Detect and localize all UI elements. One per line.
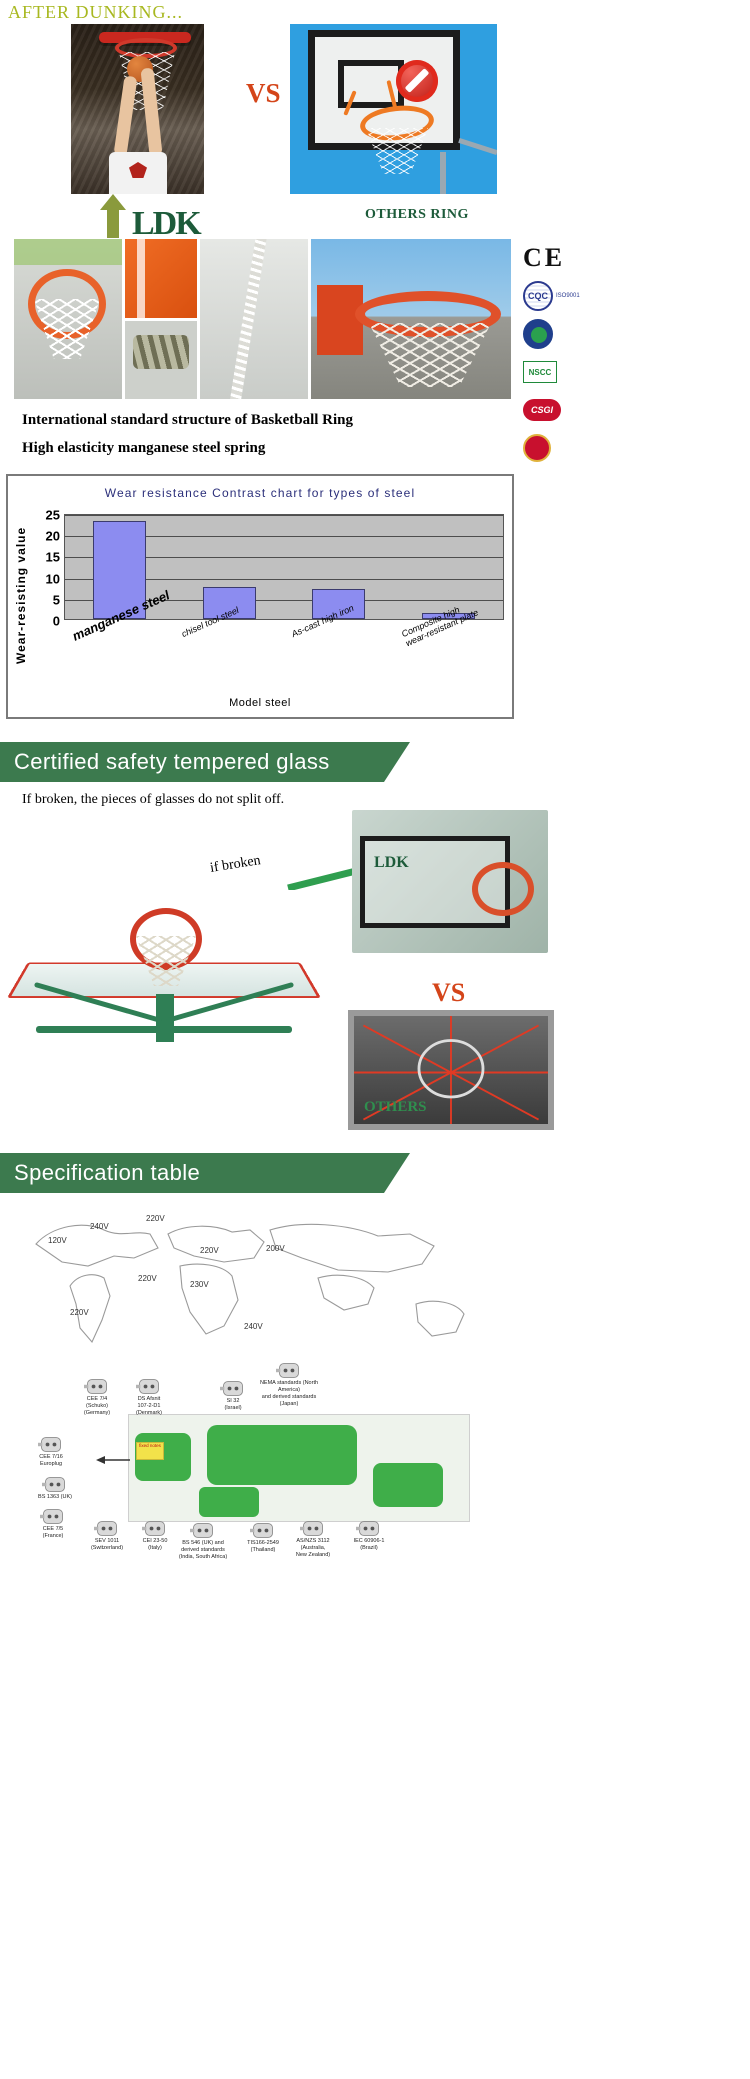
voltage-label: 220V — [70, 1308, 89, 1317]
iso9001-label: ISO9001 — [556, 293, 580, 299]
brand-logo-on-board: LDK — [374, 854, 409, 872]
upward-arrow-icon — [100, 194, 126, 238]
bs-1363-uk-label: BS 1363 (UK) — [20, 1494, 90, 1501]
cqc-icon: CQC — [523, 281, 553, 311]
ce-icon: CE — [523, 243, 565, 273]
broken-glass-detail-photo: LDK — [352, 810, 548, 953]
manganese-spring — [133, 335, 189, 369]
cee-7-4-schuko-icon — [84, 1376, 110, 1397]
support-base — [36, 1026, 292, 1033]
wear-resistance-chart: Wear resistance Contrast chart for types… — [6, 474, 514, 719]
ds-afsnit-107-2-d1-label: DS Afsnit107-2-D1(Denmark) — [114, 1396, 184, 1417]
others-watermark: OTHERS — [364, 1099, 427, 1116]
chart-y-tick: 20 — [46, 529, 60, 544]
banner-tempered-glass: Certified safety tempered glass — [0, 742, 410, 782]
glass-backboard-assembly — [18, 890, 310, 1045]
voltage-label: 240V — [244, 1322, 263, 1331]
glass-subtitle: If broken, the pieces of glasses do not … — [22, 792, 284, 808]
cert-red-seal — [523, 429, 747, 467]
player-jersey — [109, 152, 167, 194]
chart-bar-group — [175, 515, 285, 619]
as-nzs-3112-icon — [300, 1518, 326, 1539]
nema-standards-icon — [276, 1360, 302, 1381]
deformed-net — [366, 128, 428, 174]
chart-bar-group — [284, 515, 394, 619]
rim-coating-closeup — [125, 239, 197, 318]
tis-166-2549-thailand-icon — [250, 1520, 276, 1541]
nema-standards-label: NEMA standards (North America)and derive… — [254, 1380, 324, 1408]
chart-bar-group — [394, 515, 504, 619]
vs-label-middle: VS — [432, 978, 465, 1008]
world-voltage-map: 120V240V220V220V200V220V230V220V240V — [18, 1200, 518, 1360]
voltage-label: 120V — [48, 1236, 67, 1245]
no-entry-icon — [396, 60, 438, 102]
others-ring-photo — [290, 24, 497, 194]
support-pole-2 — [440, 152, 446, 194]
plug-region-map — [128, 1414, 470, 1522]
csgi-icon: CSGI — [523, 399, 561, 421]
caption-spring: High elasticity manganese steel spring — [22, 440, 265, 457]
page-title: AFTER DUNKING... — [8, 2, 183, 23]
chart-y-tick: 10 — [46, 571, 60, 586]
red-seal-icon — [523, 434, 551, 462]
chart-y-tick: 25 — [46, 508, 60, 523]
voltage-label: 220V — [146, 1214, 165, 1223]
region-note-badge: fixed notes — [136, 1442, 164, 1460]
chart-title: Wear resistance Contrast chart for types… — [8, 486, 512, 500]
region-oceania — [373, 1463, 443, 1507]
installed-net — [369, 323, 491, 387]
cee-7-16-europlug-label: CEE 7/16Europlug — [16, 1454, 86, 1468]
cee-7-5-france-icon — [40, 1506, 66, 1527]
sev-1011-switzerland-icon — [94, 1518, 120, 1539]
china-quality-emblem-icon — [523, 319, 553, 349]
cee-7-16-europlug-icon — [38, 1434, 64, 1455]
ring-with-net-photo — [14, 239, 122, 399]
chart-y-tick: 15 — [46, 550, 60, 565]
cert-china-quality — [523, 315, 747, 353]
chart-y-tick: 0 — [53, 614, 60, 629]
caption-standard-structure: International standard structure of Bask… — [22, 412, 353, 429]
certification-column: CE CQC ISO9001 NSCC CSGI — [523, 239, 747, 467]
support-pole-1 — [458, 138, 497, 155]
office-background — [14, 239, 122, 265]
chart-y-ticks: 2520151050 — [34, 506, 62, 626]
brand-logo-text: LDK — [132, 205, 200, 243]
net-rope — [227, 239, 268, 399]
cert-cqc: CQC ISO9001 — [523, 277, 747, 315]
cert-csgi: CSGI — [523, 391, 747, 429]
voltage-label: 220V — [200, 1246, 219, 1255]
map-pointer-arrow-icon — [96, 1454, 130, 1466]
chart-y-tick: 5 — [53, 592, 60, 607]
si-32-israel-icon — [220, 1378, 246, 1399]
voltage-label: 240V — [90, 1222, 109, 1231]
ds-afsnit-107-2-d1-icon — [136, 1376, 162, 1397]
others-ring-label: OTHERS RING — [365, 207, 469, 223]
nscc-icon: NSCC — [523, 361, 557, 383]
product-photo-strip — [14, 239, 514, 399]
cert-nscc: NSCC — [523, 353, 747, 391]
chart-y-axis-label: Wear-resisting value — [14, 520, 32, 670]
white-net — [34, 299, 100, 359]
bs-1363-uk-icon — [42, 1474, 68, 1495]
region-asia — [207, 1425, 357, 1485]
iec-60906-1-brazil-label: IEC 60906-1(Brazil) — [334, 1538, 404, 1552]
vs-label-top: VS — [246, 78, 281, 109]
detail-rim — [472, 862, 534, 916]
mounting-plate — [317, 285, 363, 355]
voltage-label: 220V — [138, 1274, 157, 1283]
shattered-board-photo: OTHERS — [348, 1010, 554, 1130]
net-rope-closeup — [200, 239, 308, 399]
bs-546-uk-india-icon — [190, 1520, 216, 1541]
installed-ring-photo — [311, 239, 511, 399]
brand-logo: LDK — [132, 205, 200, 243]
iec-60906-1-brazil-icon — [356, 1518, 382, 1539]
detail-column — [125, 239, 197, 399]
region-africa — [199, 1487, 259, 1517]
cei-23-50-italy-icon — [142, 1518, 168, 1539]
plug-types-panel: fixed notes CEE 7/16EuroplugCEE 7/4(Schu… — [10, 1368, 534, 1558]
spring-closeup — [125, 321, 197, 400]
dunking-photo — [71, 24, 204, 194]
if-broken-label: if broken — [209, 853, 262, 877]
voltage-label: 200V — [266, 1244, 285, 1253]
cert-ce: CE — [523, 239, 747, 277]
chart-x-axis-label: Model steel — [8, 697, 512, 709]
banner-specification-table: Specification table — [0, 1153, 410, 1193]
chart-x-tick-labels: manganese steelchisel tool steelAs-cast … — [64, 626, 504, 688]
voltage-label: 230V — [190, 1280, 209, 1289]
